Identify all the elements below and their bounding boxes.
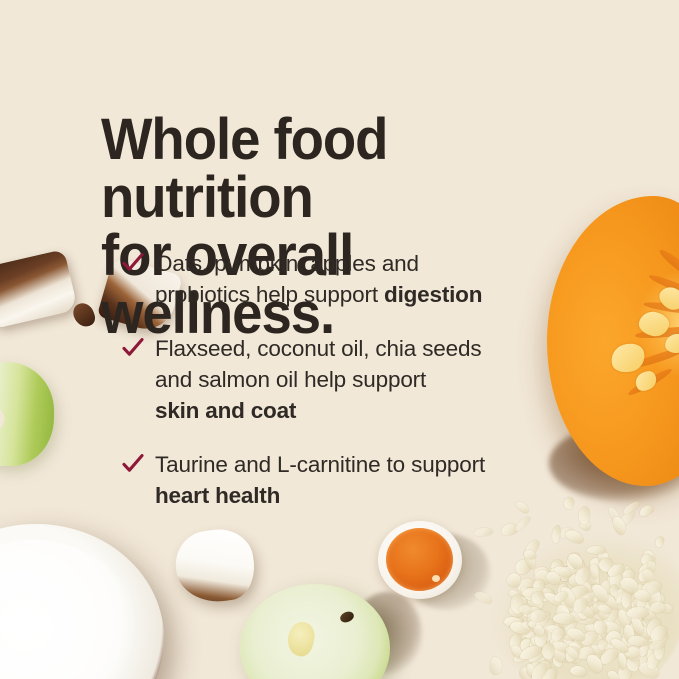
benefit-emphasis: digestion — [384, 282, 482, 307]
check-icon — [122, 253, 144, 273]
benefit-text: probiotics help support — [155, 282, 384, 307]
benefit-line: Taurine and L-carnitine to support — [155, 449, 592, 480]
benefit-line: and salmon oil help support — [155, 364, 592, 395]
benefit-line: skin and coat — [155, 395, 592, 426]
benefit-emphasis: skin and coat — [155, 398, 296, 423]
benefit-line: Oats, pumpkin, apples and — [155, 248, 592, 279]
benefit-text: Taurine and L-carnitine to support — [155, 452, 485, 477]
benefit-item-heart-health: Taurine and L-carnitine to supportheart … — [122, 449, 592, 511]
benefit-line: heart health — [155, 480, 592, 511]
benefit-line: probiotics help support digestion — [155, 279, 592, 310]
benefit-text: Flaxseed, coconut oil, chia seeds — [155, 336, 482, 361]
marketing-panel: Whole food nutrition for overall wellnes… — [0, 0, 679, 679]
benefit-text: and salmon oil help support — [155, 367, 426, 392]
check-icon — [122, 338, 144, 358]
benefit-text: Oats, pumpkin, apples and — [155, 251, 419, 276]
content-layer: Whole food nutrition for overall wellnes… — [0, 0, 679, 679]
benefit-emphasis: heart health — [155, 483, 280, 508]
benefit-list: Oats, pumpkin, apples andprobiotics help… — [122, 248, 592, 511]
benefit-item-digestion: Oats, pumpkin, apples andprobiotics help… — [122, 248, 592, 310]
benefit-line: Flaxseed, coconut oil, chia seeds — [155, 333, 592, 364]
check-icon — [122, 454, 144, 474]
benefit-item-skin-and-coat: Flaxseed, coconut oil, chia seedsand sal… — [122, 333, 592, 426]
